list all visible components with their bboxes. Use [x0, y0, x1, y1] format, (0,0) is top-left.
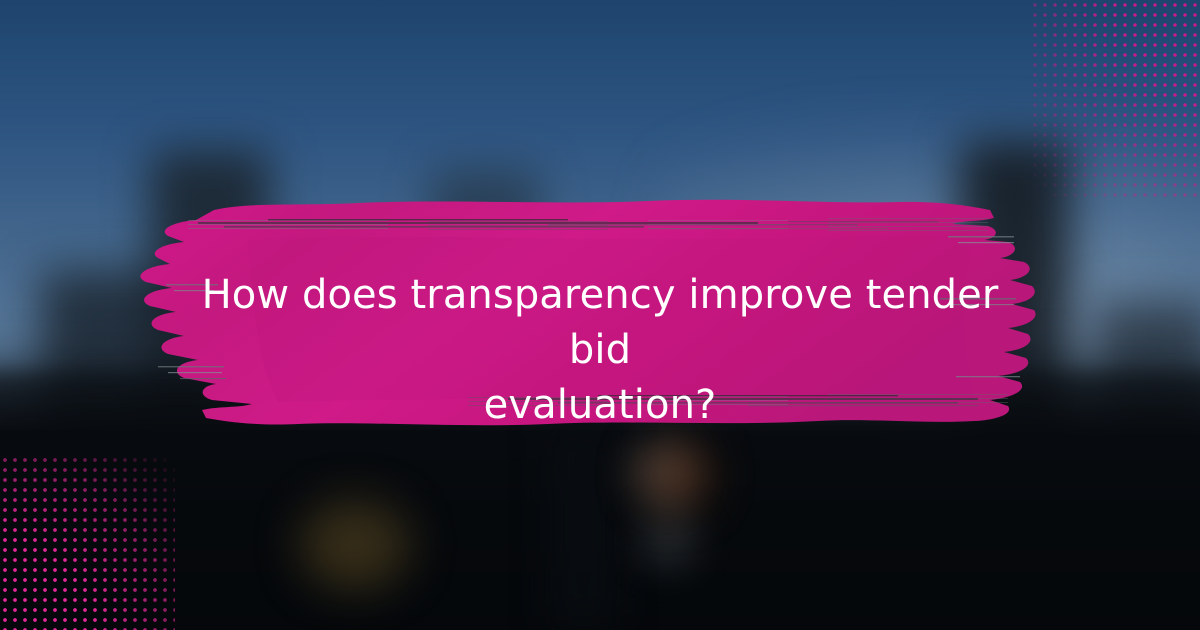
brush-texture-top [188, 218, 988, 232]
warm-light-glow [640, 440, 710, 510]
bridge-pillar [560, 420, 606, 630]
question-card: How does transparency improve tender bid… [0, 0, 1200, 630]
page-title: How does transparency improve tender bid… [190, 268, 1010, 433]
warm-light-glow [300, 500, 410, 590]
street-light-glow [648, 520, 688, 560]
